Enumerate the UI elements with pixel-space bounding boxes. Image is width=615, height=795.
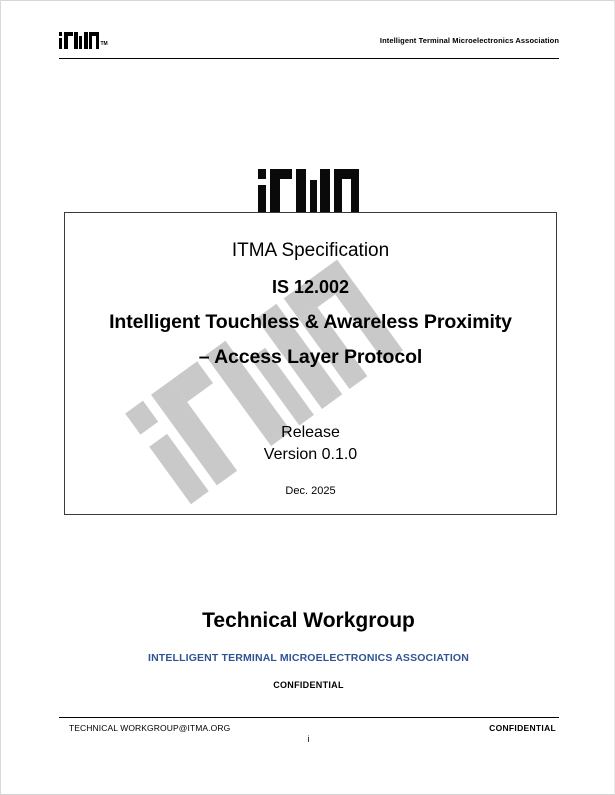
itma-logo-header	[59, 32, 99, 49]
publication-date: Dec. 2025	[65, 485, 556, 497]
document-page: TM Intelligent Terminal Microelectronics…	[0, 0, 615, 795]
confidential-notice: CONFIDENTIAL	[1, 680, 615, 690]
spec-title-line2: – Access Layer Protocol	[65, 346, 556, 369]
footer-contact-email: TECHNICAL WORKGROUP@ITMA.ORG	[69, 723, 230, 733]
version-label: Version 0.1.0	[65, 446, 556, 464]
trademark-symbol: TM	[101, 42, 108, 47]
header-divider-rule	[59, 58, 559, 59]
page-header: TM Intelligent Terminal Microelectronics…	[59, 29, 559, 61]
header-association-text: Intelligent Terminal Microelectronics As…	[380, 36, 559, 45]
spec-label: ITMA Specification	[65, 240, 556, 262]
footer-classification: CONFIDENTIAL	[489, 723, 556, 733]
footer-page-number: i	[1, 734, 615, 744]
specification-title-box: ITMA Specification IS 12.002 Intelligent…	[64, 212, 557, 515]
spec-number: IS 12.002	[65, 277, 556, 298]
release-label: Release	[65, 424, 556, 442]
hero-logo-container	[1, 156, 615, 213]
workgroup-title: Technical Workgroup	[1, 609, 615, 633]
spec-title-line1: Intelligent Touchless & Awareless Proxim…	[65, 311, 556, 334]
association-name: INTELLIGENT TERMINAL MICROELECTRONICS AS…	[1, 652, 615, 664]
itma-logo-large	[258, 169, 360, 213]
footer-divider-rule	[59, 717, 559, 718]
